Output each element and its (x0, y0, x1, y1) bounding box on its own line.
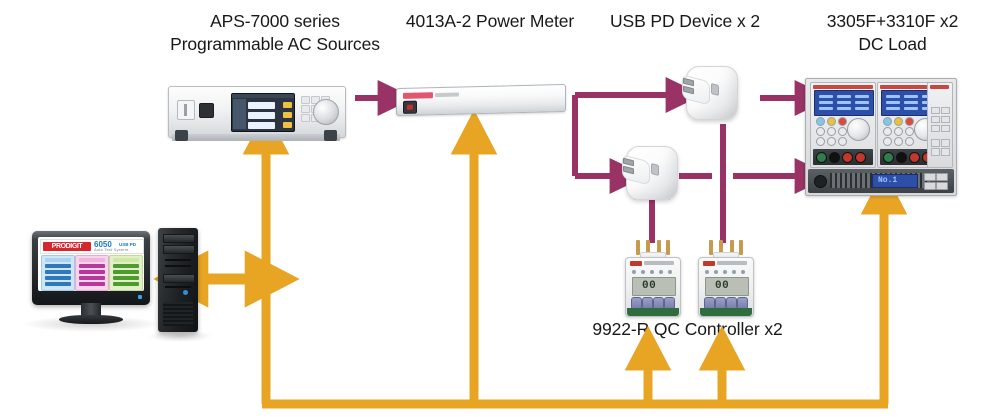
ac-source-power-button (199, 103, 214, 118)
ac-source-rack-feet (172, 134, 340, 141)
diagram-canvas: APS-7000 series Programmable AC Sources … (0, 0, 1000, 418)
qc-controller-lcd-value: 00 (715, 280, 729, 293)
tower-power-led (183, 290, 188, 295)
power-meter-chassis (396, 84, 566, 116)
device-dc-load: No.1 (805, 78, 957, 196)
device-qc-controller-2: 00 (695, 240, 755, 318)
qc-controller-lcd: 00 (632, 277, 676, 296)
dc-load-mainframe-panel (927, 82, 953, 168)
tower-vent-grill (163, 302, 193, 326)
power-meter-model-strip (435, 93, 459, 98)
dc-load-base-display: No.1 (872, 174, 918, 188)
monitor-power-led (138, 295, 142, 299)
qc-controller-lcd: 00 (705, 277, 749, 296)
app-header: PRODIGIT 6050 USB PD Auto Test System (40, 239, 144, 254)
dc-load-base-display-value: No.1 (878, 176, 897, 185)
ac-source-rotary-knob (313, 99, 339, 125)
dc-load-base-keys (924, 173, 950, 189)
monitor-stand-base (59, 315, 123, 324)
connector-layer (0, 0, 1000, 418)
app-panel-3 (109, 255, 143, 291)
device-qc-controller-1: 00 (622, 240, 682, 318)
app-panel-2 (75, 255, 109, 291)
ac-source-display (231, 93, 295, 132)
power-meter-power-switch (403, 101, 417, 114)
device-usb-pd-charger-top (678, 62, 740, 124)
charger-usb-port (711, 83, 719, 96)
ac-source-chassis (168, 86, 346, 138)
qc-controller-buttons (704, 297, 748, 308)
dc-load-module-1 (810, 82, 876, 168)
power-meter-brand-strip (403, 92, 433, 99)
dc-load-module-terminals (813, 149, 873, 165)
app-panel-1 (41, 255, 75, 291)
device-usb-pd-charger-bottom (618, 142, 680, 204)
app-subtitle: Auto Test System (94, 248, 128, 252)
qc-controller-lcd-value: 00 (642, 280, 656, 293)
dc-load-module-display (814, 90, 874, 116)
qc-controller-buttons (631, 297, 675, 308)
dc-load-fan-icon (814, 175, 827, 188)
monitor-screen: PRODIGIT 6050 USB PD Auto Test System (38, 237, 144, 291)
app-brand-logo: PRODIGIT (43, 242, 91, 251)
monitor-bezel: PRODIGIT 6050 USB PD Auto Test System (32, 231, 150, 305)
dc-load-module-controls (814, 117, 872, 147)
device-ac-source (168, 78, 346, 146)
dc-load-mainframe-base: No.1 (808, 169, 954, 193)
ac-source-outlet (177, 100, 195, 120)
charger-usb-port (651, 163, 659, 176)
device-power-meter (396, 86, 568, 118)
